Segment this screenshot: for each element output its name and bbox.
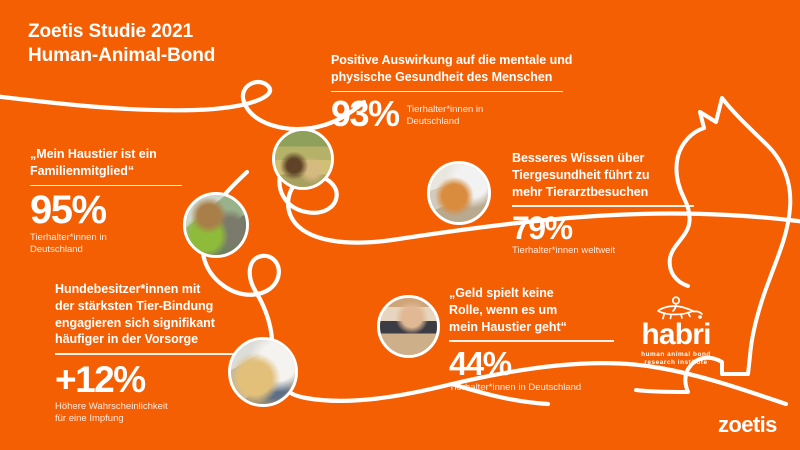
page-title: Zoetis Studie 2021 Human-Animal-Bond (28, 20, 215, 69)
stat-money-value: 44% (449, 347, 634, 380)
stat-knowledge-divider (512, 205, 694, 207)
stat-block-prevention: Hundebesitzer*innen mit der stärksten Ti… (55, 281, 255, 425)
photo-bubble-payment (377, 295, 440, 358)
stat-knowledge-headline: Besseres Wissen über Tiergesundheit führ… (512, 150, 717, 200)
photo-bubble-field (272, 128, 334, 190)
stat-block-money: „Geld spielt keine Rolle, wenn es um mei… (449, 285, 634, 394)
photo-cat-image (430, 164, 488, 222)
stat-block-health: Positive Auswirkung auf die mentale und … (331, 52, 583, 132)
stat-family-divider (30, 185, 182, 187)
infographic-canvas: Zoetis Studie 2021 Human-Animal-Bond „Me… (0, 0, 800, 450)
habri-tagline: human animal bond research institute (625, 351, 727, 367)
stat-family-value: 95% (30, 190, 200, 230)
stat-family-caption: Tierhalter*innen in Deutschland (30, 232, 200, 256)
photo-bubble-cat (427, 161, 491, 225)
stat-prevention-divider (55, 353, 235, 355)
zoetis-logo: zoetis (718, 412, 777, 438)
stat-prevention-caption: Höhere Wahrscheinlichkeit für eine Impfu… (55, 401, 255, 425)
stat-knowledge-value: 79% (512, 212, 717, 244)
habri-logo: habri human animal bond research institu… (625, 296, 727, 367)
stat-health-divider (331, 91, 563, 93)
stat-knowledge-caption: Tierhalter*innen weltweit (512, 245, 717, 257)
stat-prevention-value: +12% (55, 361, 255, 398)
photo-field-image (275, 131, 331, 187)
stat-prevention-headline: Hundebesitzer*innen mit der stärksten Ti… (55, 281, 255, 348)
photo-payment-image (380, 298, 437, 355)
stat-health-headline: Positive Auswirkung auf die mentale und … (331, 52, 583, 86)
stat-money-divider (449, 340, 614, 342)
stat-money-headline: „Geld spielt keine Rolle, wenn es um mei… (449, 285, 634, 335)
habri-human-animal-icon (646, 296, 706, 320)
stat-health-value: 93% (331, 96, 399, 132)
habri-wordmark: habri (625, 321, 727, 349)
stat-money-caption: Tierhalter*innen in Deutschland (449, 382, 634, 394)
stat-health-caption: Tierhalter*innen in Deutschland (407, 104, 484, 132)
stat-family-headline: „Mein Haustier ist ein Familienmitglied“ (30, 146, 200, 180)
stat-block-family: „Mein Haustier ist ein Familienmitglied“… (30, 146, 200, 256)
stat-block-knowledge: Besseres Wissen über Tiergesundheit führ… (512, 150, 717, 257)
